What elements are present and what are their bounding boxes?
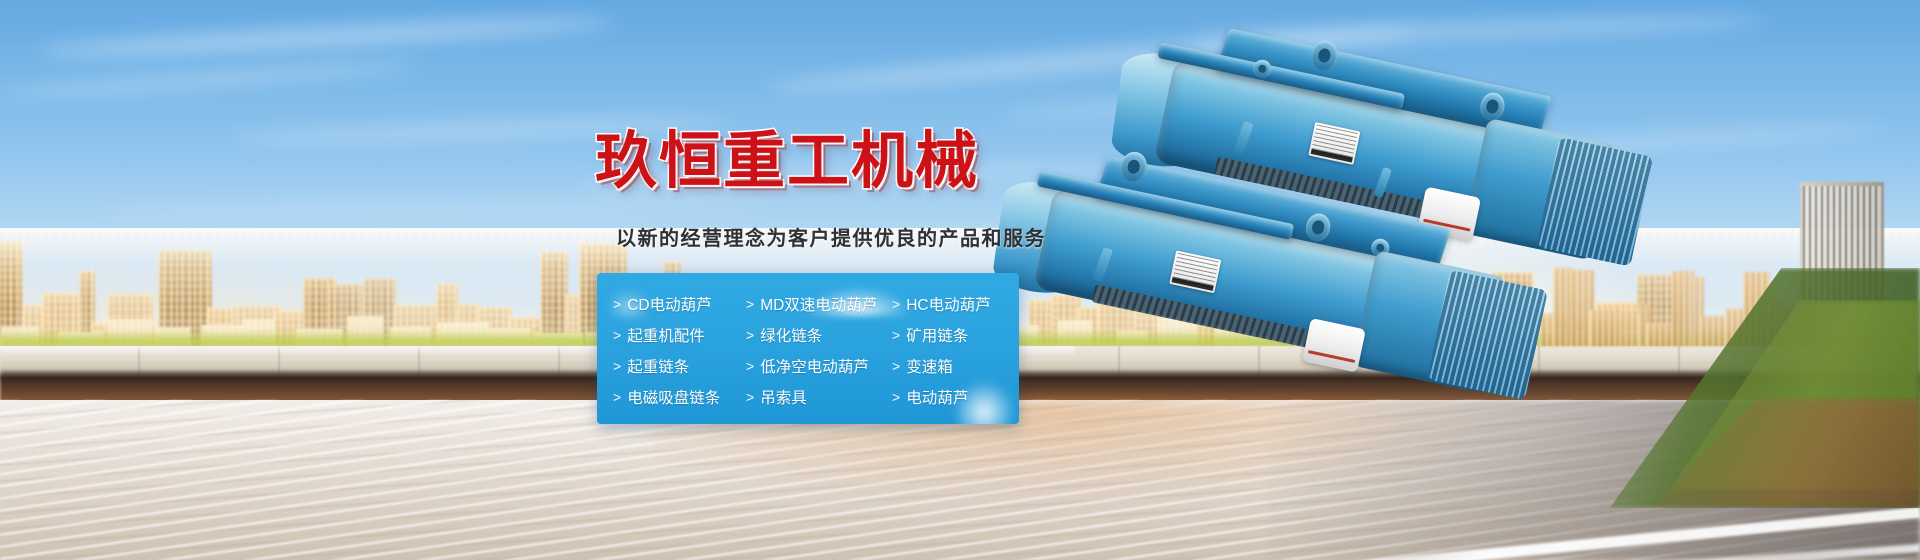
page-subtitle: 以新的经营理念为客户提供优良的产品和服务 [616, 222, 1046, 251]
product-link[interactable]: >变速箱 [876, 355, 1019, 377]
hero-banner: 玖恒重工机械 以新的经营理念为客户提供优良的产品和服务 >CD电动葫芦>MD双速… [0, 0, 1920, 560]
product-link[interactable]: >起重链条 [597, 355, 730, 377]
product-link-label: CD电动葫芦 [627, 293, 711, 315]
chevron-right-icon: > [746, 389, 754, 405]
product-link[interactable]: >低净空电动葫芦 [730, 355, 876, 377]
product-link[interactable]: >HC电动葫芦 [876, 293, 1019, 315]
electric-hoist-product-photo [1020, 50, 1780, 430]
chevron-right-icon: > [892, 296, 900, 312]
product-link-label: 变速箱 [906, 355, 953, 377]
chevron-right-icon: > [613, 327, 621, 343]
chevron-right-icon: > [613, 358, 621, 374]
product-link[interactable]: >CD电动葫芦 [597, 293, 730, 315]
product-link-label: 低净空电动葫芦 [760, 355, 869, 377]
chevron-right-icon: > [746, 358, 754, 374]
product-link[interactable]: >MD双速电动葫芦 [730, 293, 876, 315]
product-link[interactable]: >吊索具 [730, 386, 876, 408]
product-link-label: MD双速电动葫芦 [760, 293, 877, 315]
chevron-right-icon: > [892, 358, 900, 374]
chevron-right-icon: > [746, 327, 754, 343]
product-link[interactable]: >电动葫芦 [876, 386, 1019, 408]
chevron-right-icon: > [746, 296, 754, 312]
chevron-right-icon: > [892, 327, 900, 343]
product-link-label: 矿用链条 [906, 324, 968, 346]
chevron-right-icon: > [613, 389, 621, 405]
chevron-right-icon: > [613, 296, 621, 312]
product-category-panel: >CD电动葫芦>MD双速电动葫芦>HC电动葫芦>起重机配件>绿化链条>矿用链条>… [597, 273, 1019, 424]
product-link-label: 电动葫芦 [906, 386, 968, 408]
product-link-label: 绿化链条 [760, 324, 822, 346]
product-category-grid: >CD电动葫芦>MD双速电动葫芦>HC电动葫芦>起重机配件>绿化链条>矿用链条>… [597, 273, 1019, 412]
product-link-label: 起重链条 [627, 355, 689, 377]
hoist-motor-cooling-fins [1427, 270, 1548, 400]
product-link-label: HC电动葫芦 [906, 293, 990, 315]
product-link-label: 起重机配件 [627, 324, 705, 346]
product-link[interactable]: >矿用链条 [876, 324, 1019, 346]
product-link[interactable]: >起重机配件 [597, 324, 730, 346]
product-link-label: 电磁吸盘链条 [627, 386, 720, 408]
page-title: 玖恒重工机械 [595, 131, 979, 193]
product-link[interactable]: >电磁吸盘链条 [597, 386, 730, 408]
product-link-label: 吊索具 [760, 386, 807, 408]
product-link[interactable]: >绿化链条 [730, 324, 876, 346]
chevron-right-icon: > [892, 389, 900, 405]
